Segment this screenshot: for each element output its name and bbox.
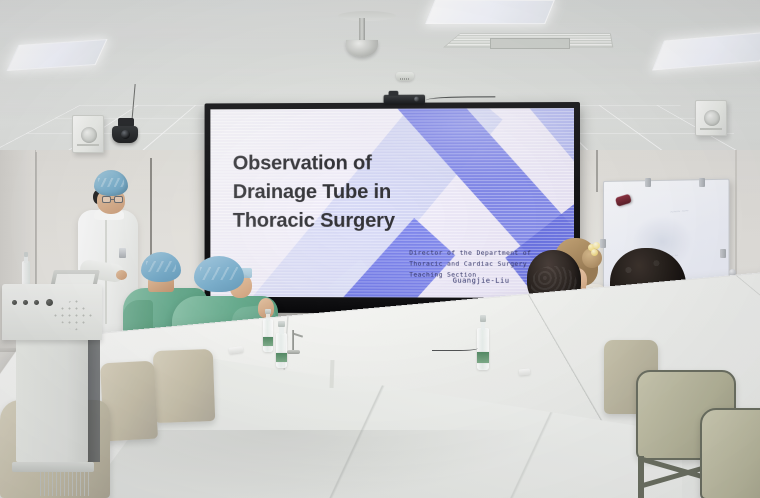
bottle-label: [263, 337, 273, 346]
bottle-cap: [480, 315, 487, 322]
ceiling-mount-ring: [338, 11, 396, 21]
lectern-base: [12, 462, 94, 472]
speaker-grille-icon: [52, 298, 96, 332]
bottle-neck: [24, 256, 27, 263]
lectern-vents: [40, 470, 92, 496]
lectern-top: [2, 284, 102, 340]
speaker-cone-icon: [81, 127, 97, 143]
surgical-cap-icon: [94, 170, 128, 196]
lectern[interactable]: [0, 284, 106, 498]
water-bottle[interactable]: [477, 316, 489, 370]
whiteboard-writing: ~~~ ~~: [670, 208, 689, 216]
small-table-object[interactable]: [519, 368, 531, 375]
lectern-side-panel: [88, 340, 100, 462]
surgical-cap-icon: [194, 256, 244, 292]
smoke-detector-icon: [396, 72, 414, 81]
chair[interactable]: [150, 350, 218, 470]
chair-frame: [638, 456, 644, 498]
air-vent: [490, 38, 570, 49]
screen-mounted-camera-icon: [384, 95, 425, 104]
wall-speaker-right: [695, 100, 727, 136]
slide-title: Observation of Drainage Tube in Thoracic…: [233, 148, 449, 235]
lectern-controls[interactable]: [12, 300, 56, 308]
chair-back: [153, 349, 215, 423]
wall-seam: [596, 150, 598, 192]
mic-base: [287, 350, 300, 354]
bottle-body: [22, 261, 30, 286]
lectern-body: [16, 340, 88, 462]
screen-cable: [426, 96, 495, 102]
camera-lens-icon: [121, 130, 130, 139]
mic-stem: [292, 330, 294, 350]
speaker-cone-icon: [704, 110, 720, 126]
bottle-cap: [265, 309, 271, 314]
water-bottle[interactable]: [22, 252, 30, 286]
bottle-body: [477, 328, 489, 370]
bottle-body: [263, 319, 273, 352]
chair-back: [700, 408, 760, 498]
slide-author: Guangjie-Liu: [453, 276, 510, 285]
bottle-cap: [278, 321, 284, 327]
wall-speaker-left: [72, 115, 104, 153]
table-cable: [432, 344, 478, 351]
bottle-cap: [24, 252, 29, 257]
water-bottle[interactable]: [263, 310, 273, 352]
eyeglasses-icon: [102, 196, 124, 203]
ceiling-light-panel: [425, 0, 555, 24]
chair[interactable]: [700, 408, 760, 498]
table-microphone-icon[interactable]: [284, 330, 302, 356]
whiteboard-clip: [699, 178, 705, 187]
bottle-label: [477, 352, 489, 363]
speaker-slot: [700, 128, 722, 130]
speaker-slot: [77, 144, 99, 146]
whiteboard-eraser-icon[interactable]: [615, 194, 632, 207]
conference-room-photo: Observation of Drainage Tube in Thoracic…: [0, 0, 760, 498]
whiteboard-clip: [645, 178, 651, 187]
